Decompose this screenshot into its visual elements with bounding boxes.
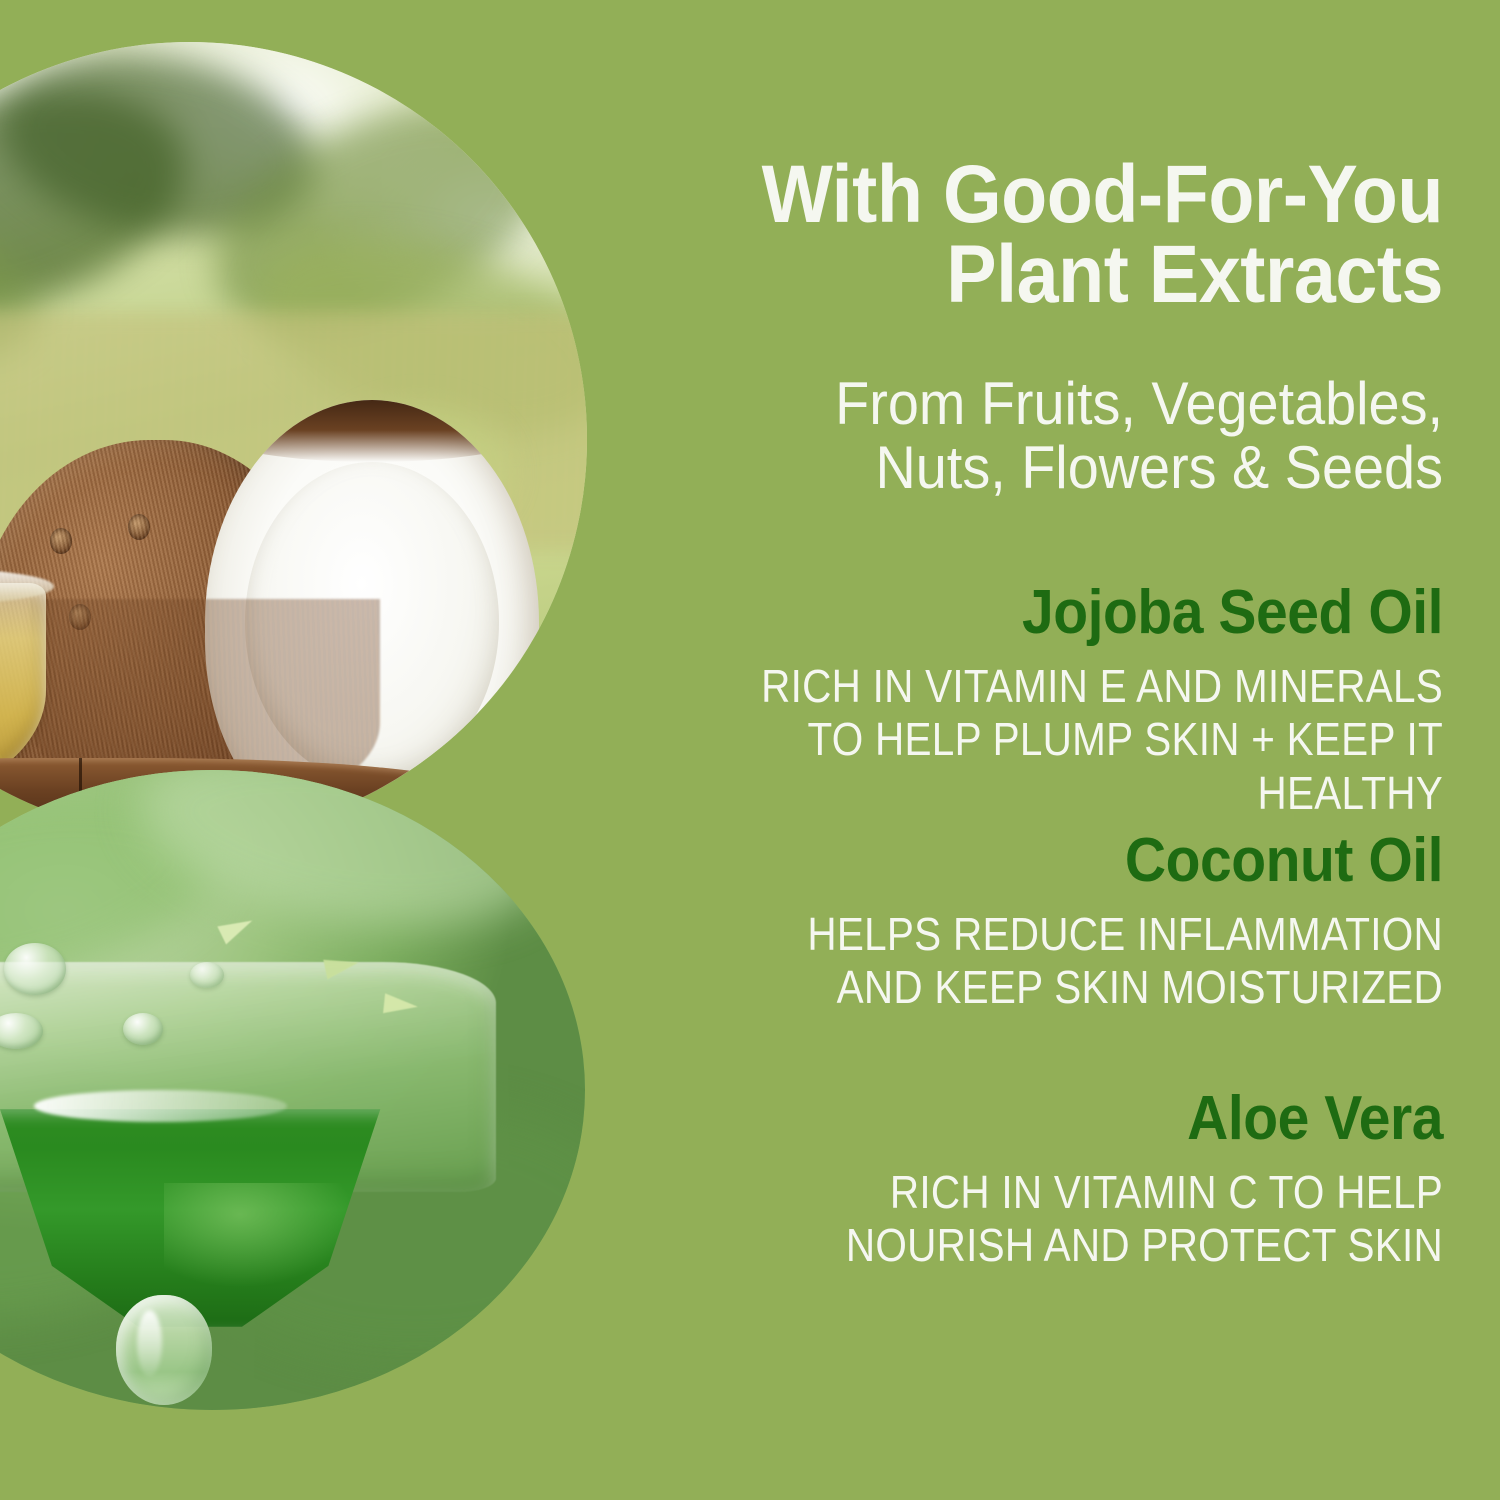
aloe-spike-icon [383,993,419,1016]
ingredient-block-aloe-vera: Aloe Vera RICH IN VITAMIN C TO HELP NOUR… [600,1088,1443,1273]
subheadline-line-2: Nuts, Flowers & Seeds [659,436,1443,500]
headline-line-2: Plant Extracts [667,235,1443,315]
ingredient-description: RICH IN VITAMIN E AND MINERALS TO HELP P… [701,660,1443,820]
ingredient-description-line-1: RICH IN VITAMIN C TO HELP [701,1166,1443,1219]
ingredient-description-line-2: TO HELP PLUMP SKIN + KEEP IT HEALTHY [701,713,1443,820]
aloe-photo [0,770,585,1410]
water-droplet [190,962,224,988]
ingredient-name: Aloe Vera [667,1088,1443,1150]
coconut-shell-rim [205,400,539,462]
subheadline-line-1: From Fruits, Vegetables, [659,372,1443,436]
ingredient-description: RICH IN VITAMIN C TO HELP NOURISH AND PR… [701,1166,1443,1273]
ingredient-name: Jojoba Seed Oil [667,582,1443,644]
water-droplet [4,943,66,995]
coconut-eye [128,514,150,540]
content-column: With Good-For-You Plant Extracts From Fr… [600,0,1443,1500]
ingredient-name: Coconut Oil [667,830,1443,892]
ingredient-description-line-1: HELPS REDUCE INFLAMMATION [701,908,1443,961]
aloe-gel-glaze [34,1090,287,1122]
page-title: With Good-For-You Plant Extracts [667,155,1443,316]
page-subtitle: From Fruits, Vegetables, Nuts, Flowers &… [659,372,1443,499]
ingredient-block-jojoba-seed-oil: Jojoba Seed Oil RICH IN VITAMIN E AND MI… [600,582,1443,820]
ingredient-block-coconut-oil: Coconut Oil HELPS REDUCE INFLAMMATION AN… [600,830,1443,1015]
ingredient-description-line-2: NOURISH AND PROTECT SKIN [701,1219,1443,1272]
ingredient-description: HELPS REDUCE INFLAMMATION AND KEEP SKIN … [701,908,1443,1015]
ingredient-description-line-2: AND KEEP SKIN MOISTURIZED [701,961,1443,1014]
ingredient-description-line-1: RICH IN VITAMIN E AND MINERALS [701,660,1443,713]
infographic-canvas: With Good-For-You Plant Extracts From Fr… [0,0,1500,1500]
aloe-gel-droplet [116,1295,212,1405]
headline-line-1: With Good-For-You [667,155,1443,235]
coconut-eye [50,528,72,554]
coconut-photo [0,42,587,837]
